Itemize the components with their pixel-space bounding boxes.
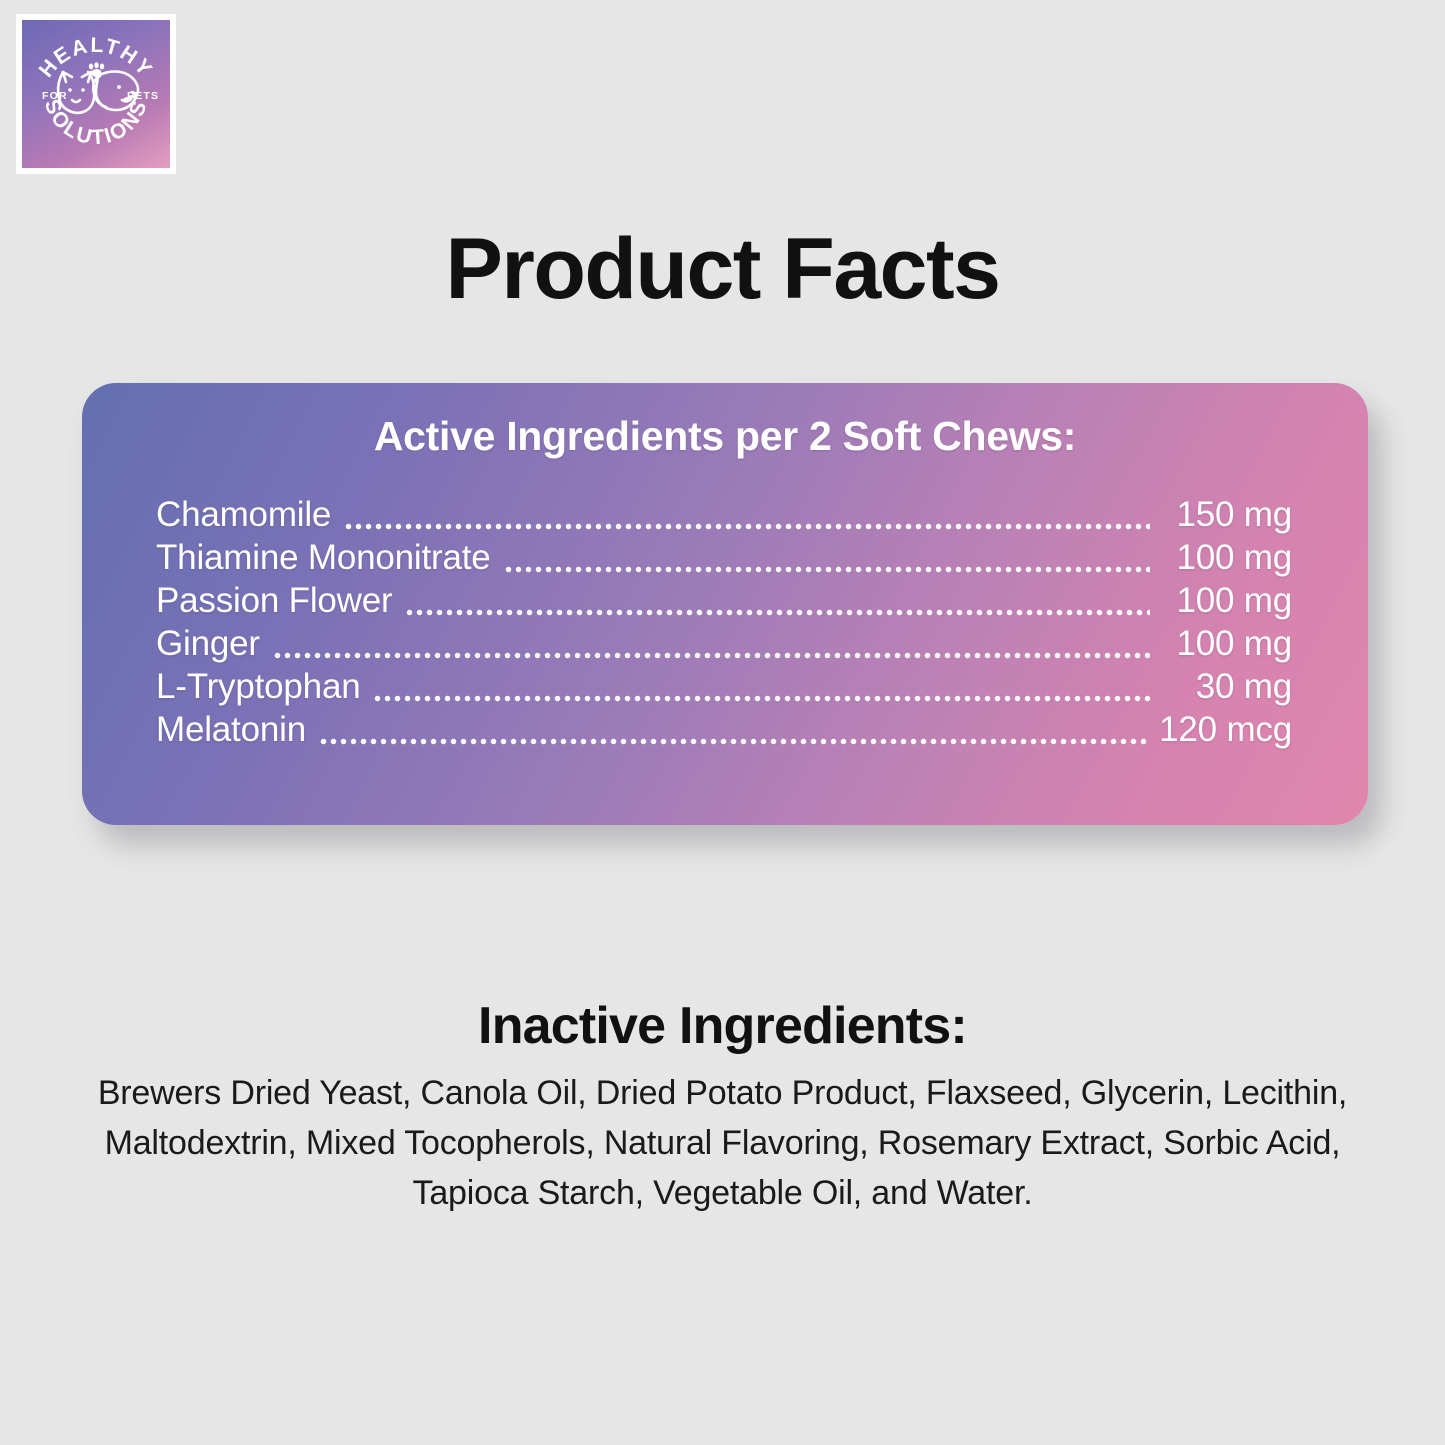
ingredient-name: Thiamine Mononitrate <box>156 538 491 578</box>
leader-dots <box>505 566 1151 573</box>
ingredient-row: Passion Flower 100 mg <box>156 581 1292 624</box>
svg-text:SOLUTIONS: SOLUTIONS <box>40 96 153 149</box>
active-ingredients-card: Active Ingredients per 2 Soft Chews: Cha… <box>82 383 1368 825</box>
leader-dots <box>320 738 1149 745</box>
ingredient-name: Melatonin <box>156 710 306 750</box>
ingredient-amount: 30 mg <box>1160 667 1292 707</box>
ingredient-name: Ginger <box>156 624 260 664</box>
ingredient-amount: 120 mcg <box>1159 710 1292 750</box>
ingredient-amount: 100 mg <box>1160 538 1292 578</box>
leader-dots <box>406 609 1150 616</box>
brand-logo-tile: HEALTHY SOLUTIONS FOR PETS <box>16 14 176 174</box>
ingredient-name: L-Tryptophan <box>156 667 360 707</box>
ingredient-row: Chamomile 150 mg <box>156 495 1292 538</box>
ingredient-amount: 100 mg <box>1160 581 1292 621</box>
ingredient-row: Thiamine Mononitrate 100 mg <box>156 538 1292 581</box>
leader-dots <box>345 523 1150 530</box>
leader-dots <box>274 652 1150 659</box>
inactive-line: Tapioca Starch, Vegetable Oil, and Water… <box>85 1168 1360 1218</box>
brand-logo-gradient: HEALTHY SOLUTIONS FOR PETS <box>22 20 170 168</box>
ingredient-amount: 150 mg <box>1160 495 1292 535</box>
active-ingredients-title: Active Ingredients per 2 Soft Chews: <box>82 413 1368 460</box>
ingredient-row: L-Tryptophan 30 mg <box>156 667 1292 710</box>
brand-logo-artwork: HEALTHY SOLUTIONS FOR PETS <box>22 20 170 168</box>
leader-dots <box>374 695 1150 702</box>
ingredient-name: Passion Flower <box>156 581 392 621</box>
inactive-ingredients-text: Brewers Dried Yeast, Canola Oil, Dried P… <box>85 1068 1360 1218</box>
inactive-line: Brewers Dried Yeast, Canola Oil, Dried P… <box>85 1068 1360 1118</box>
ingredient-amount: 100 mg <box>1160 624 1292 664</box>
inactive-line: Maltodextrin, Mixed Tocopherols, Natural… <box>85 1118 1360 1168</box>
active-ingredients-list: Chamomile 150 mg Thiamine Mononitrate 10… <box>156 495 1292 753</box>
page-title: Product Facts <box>0 226 1445 312</box>
inactive-ingredients-title: Inactive Ingredients: <box>0 1000 1445 1052</box>
svg-text:FOR: FOR <box>42 90 68 102</box>
ingredient-row: Ginger 100 mg <box>156 624 1292 667</box>
ingredient-row: Melatonin 120 mcg <box>156 710 1292 753</box>
ingredient-name: Chamomile <box>156 495 331 535</box>
